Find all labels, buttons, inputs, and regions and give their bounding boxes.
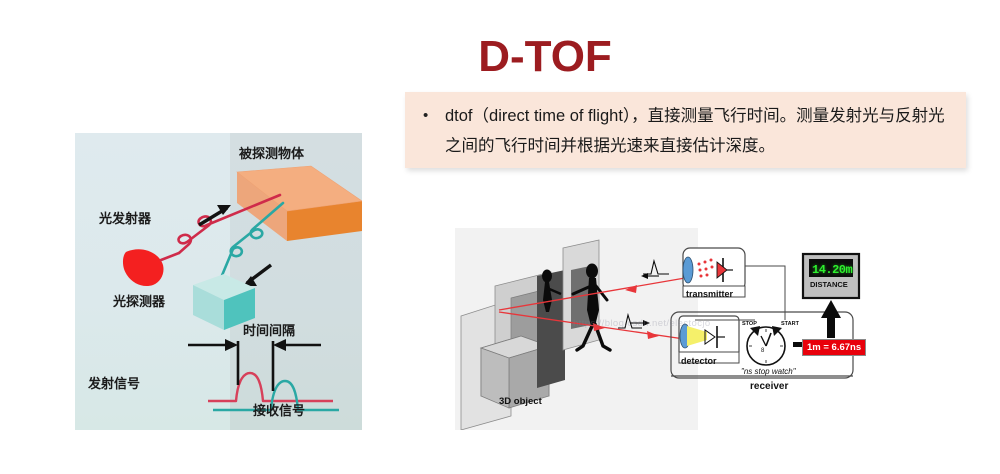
light-emitter-shape xyxy=(123,249,179,286)
label-transmit-signal: 发射信号 xyxy=(88,373,140,392)
incoming-arrow-icon xyxy=(243,265,271,286)
label-receiver: receiver xyxy=(750,381,788,392)
bullet-callout-box: • dtof（direct time of flight），直接测量飞行时间。测… xyxy=(405,92,966,168)
label-receive-signal: 接收信号 xyxy=(253,400,305,419)
badge-meter-to-nanoseconds: 1m = 6.67ns xyxy=(802,339,866,356)
bullet-row: • dtof（direct time of flight），直接测量飞行时间。测… xyxy=(419,101,952,161)
bullet-text: dtof（direct time of flight），直接测量飞行时间。测量发… xyxy=(445,101,952,161)
right-diagram-lidar-system: 8 3D object transmitter detector "ns sto… xyxy=(455,228,910,430)
label-distance-caption: DISTANCE xyxy=(810,280,848,289)
outgoing-pulse-symbol xyxy=(641,261,669,279)
label-start-terminal: START xyxy=(781,321,799,327)
label-stop-terminal: STOP xyxy=(742,321,757,327)
label-target-object: 被探测物体 xyxy=(239,143,304,162)
left-diagram-dtof-principle: 被探测物体 光发射器 光探测器 时间间隔 发射信号 接收信号 xyxy=(75,133,362,430)
label-light-detector: 光探测器 xyxy=(113,291,165,310)
label-time-interval: 时间间隔 xyxy=(243,320,295,339)
bullet-marker-icon: • xyxy=(419,101,445,131)
label-detector: detector xyxy=(681,356,717,366)
label-light-emitter: 光发射器 xyxy=(99,208,151,227)
display-arrow-icon xyxy=(821,300,841,338)
ns-stopwatch-icon: 8 xyxy=(747,326,785,365)
label-transmitter: transmitter xyxy=(686,289,733,299)
label-3d-object: 3D object xyxy=(499,396,542,407)
label-ns-stop-watch: "ns stop watch" xyxy=(741,367,796,376)
page-title: D-TOF xyxy=(0,32,1000,82)
distance-readout-value: 14.20m xyxy=(812,263,852,277)
watermark-text: https://blog.csdn.net/electocjo xyxy=(573,318,711,329)
